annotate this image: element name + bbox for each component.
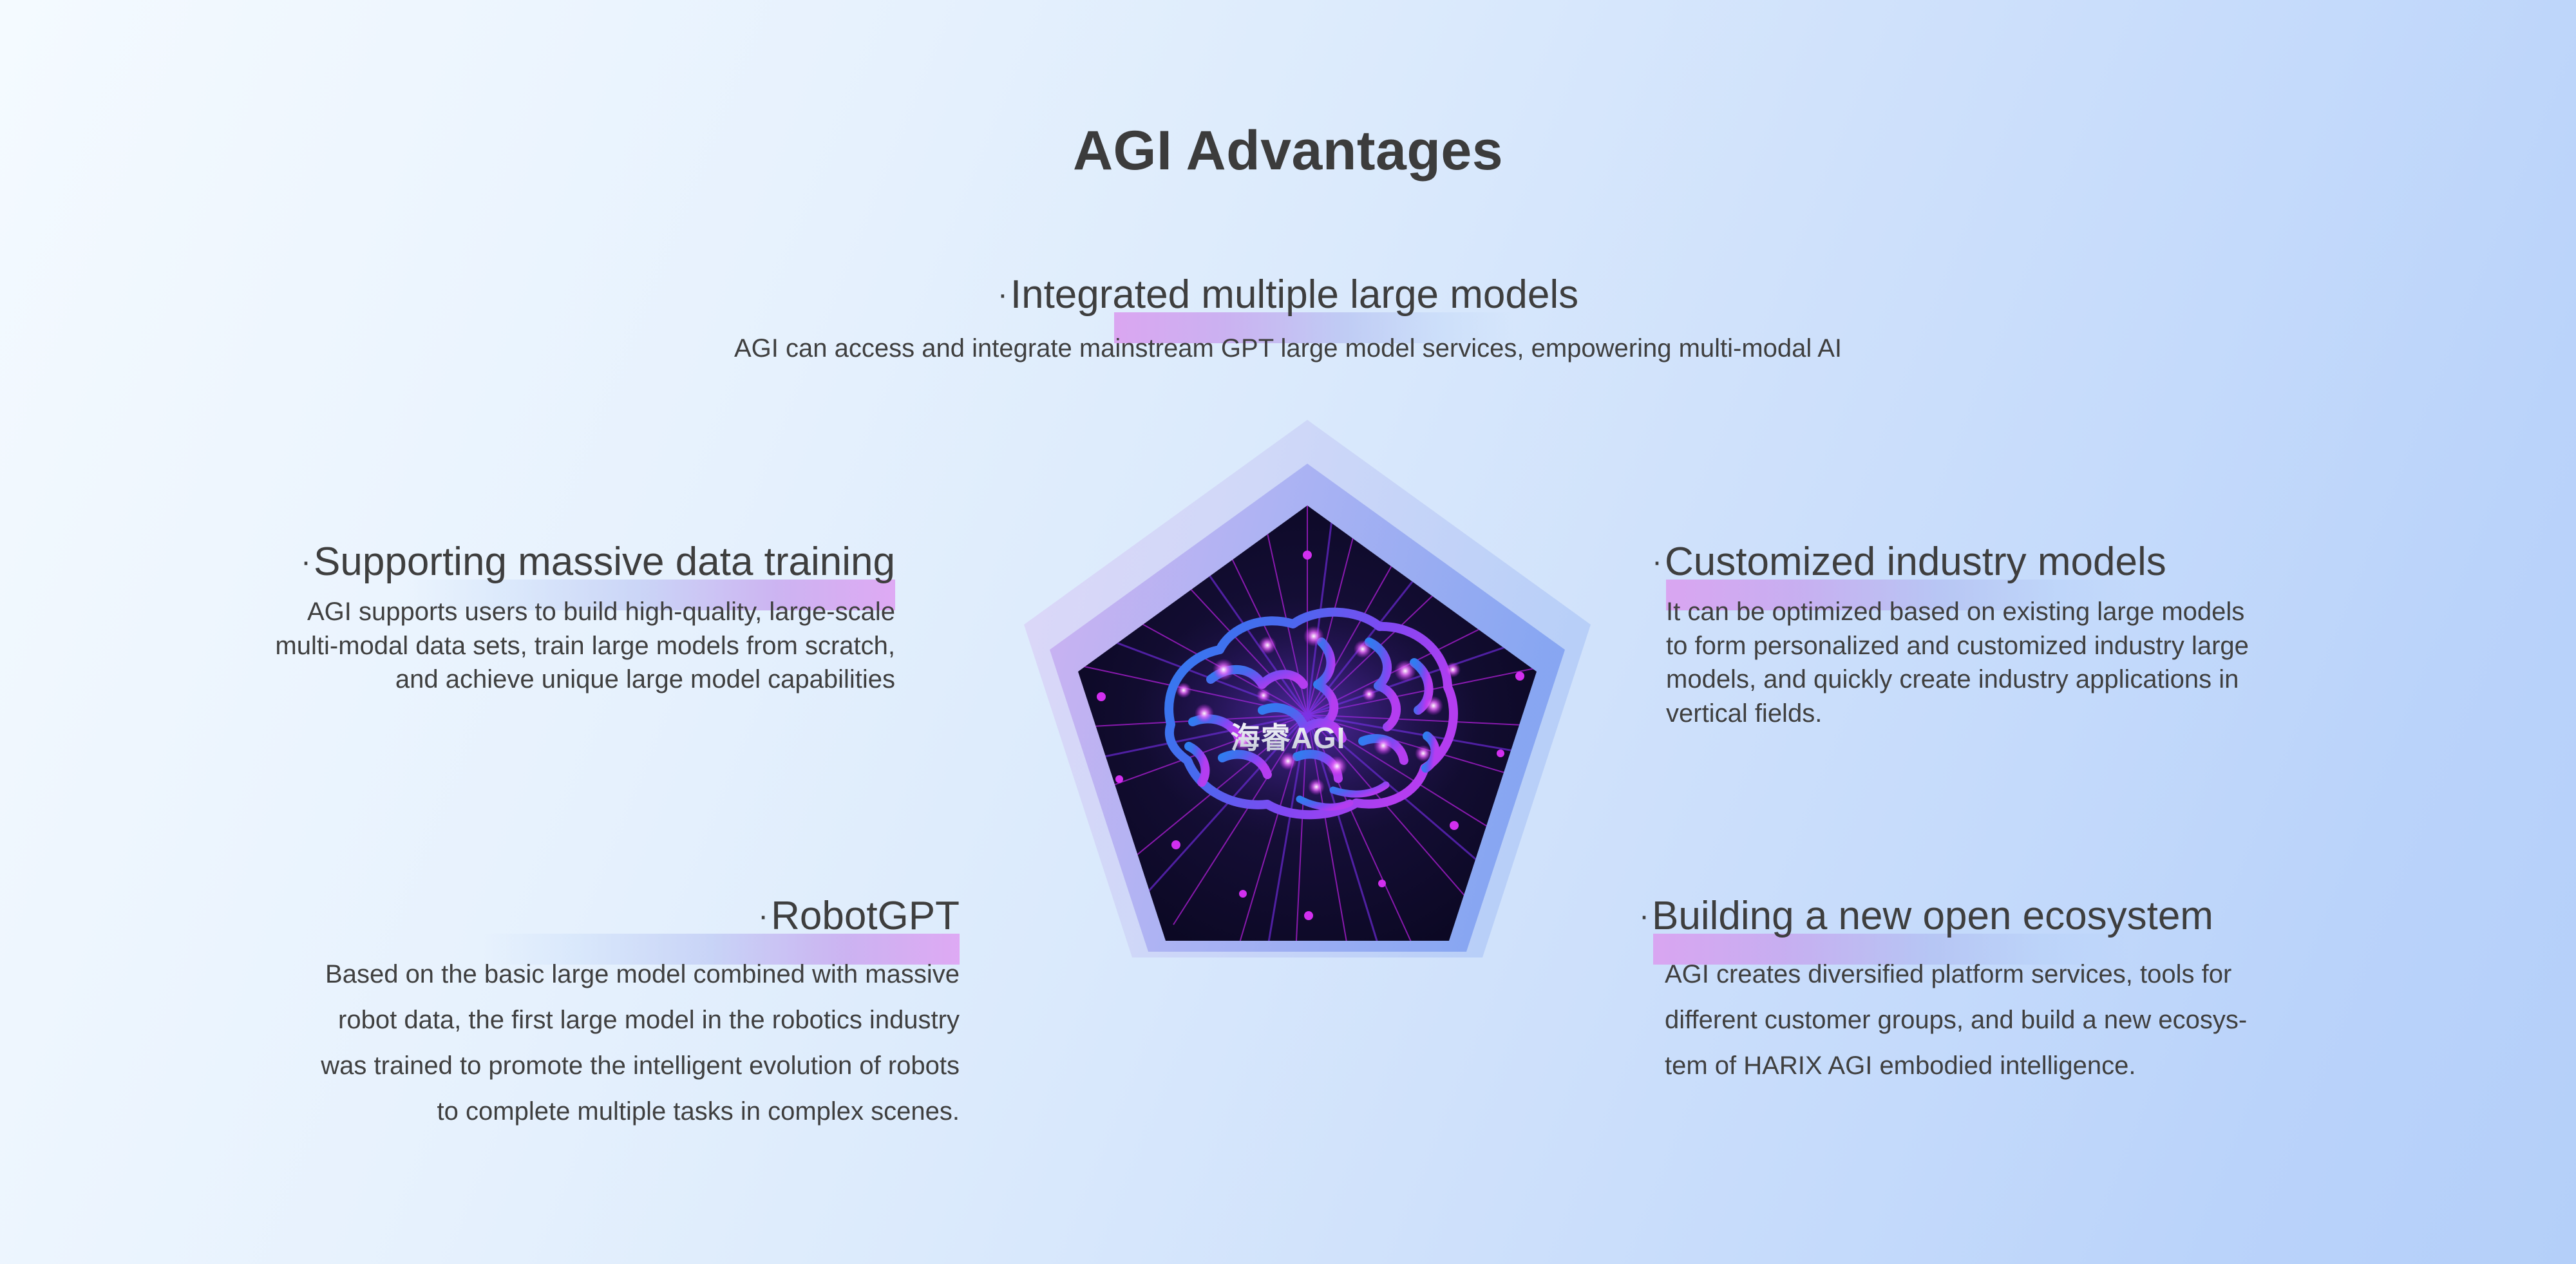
bullet-dot-2: · xyxy=(301,545,314,579)
section-heading-text-3: RobotGPT xyxy=(771,894,960,938)
section-robotgpt: ·RobotGPT Based on the basic large model… xyxy=(39,895,960,1135)
section-heading-4: ·Customized industry models xyxy=(1652,541,2553,583)
section-heading-text-2: Supporting massive data training xyxy=(314,540,895,584)
section-building-a-new-open-ecosystem: ·Building a new open ecosystem AGI creat… xyxy=(1639,895,2553,1089)
section-customized-industry-models: ·Customized industry models It can be op… xyxy=(1652,541,2553,731)
section-body-line: robot data, the first large model in the… xyxy=(39,997,960,1043)
section-heading-1: ·Integrated multiple large models xyxy=(0,274,2576,316)
pentagon-brain-graphic xyxy=(1011,393,1604,1088)
section-heading-2: ·Supporting massive data training xyxy=(39,541,895,583)
bullet-dot-1: · xyxy=(998,278,1010,312)
section-body-line: vertical fields. xyxy=(1666,697,2553,731)
section-heading-3: ·RobotGPT xyxy=(39,895,960,938)
section-integrated-multiple-large-models: ·Integrated multiple large models AGI ca… xyxy=(0,274,2576,366)
section-supporting-massive-data-training: ·Supporting massive data training AGI su… xyxy=(39,541,895,697)
section-body-line: and achieve unique large model capabilit… xyxy=(39,663,895,697)
section-body-line: was trained to promote the intelligent e… xyxy=(39,1043,960,1089)
section-body-5: AGI creates diversified platform service… xyxy=(1639,952,2553,1089)
section-body-line: different customer groups, and build a n… xyxy=(1665,997,2553,1043)
section-body-line: to form personalized and customized indu… xyxy=(1666,629,2553,663)
section-heading-text-1: Integrated multiple large models xyxy=(1010,272,1578,317)
section-body-line: AGI supports users to build high-quality… xyxy=(39,595,895,629)
infographic-canvas: AGI Advantages ·Integrated multiple larg… xyxy=(0,0,2576,1264)
section-body-line: Based on the basic large model combined … xyxy=(39,952,960,997)
section-body-line: multi-modal data sets, train large model… xyxy=(39,629,895,663)
section-body-line: AGI creates diversified platform service… xyxy=(1665,952,2553,997)
bullet-dot-5: · xyxy=(1639,899,1652,933)
section-body-4: It can be optimized based on existing la… xyxy=(1652,595,2553,731)
bullet-dot-3: · xyxy=(758,899,771,933)
section-body-line: models, and quickly create industry appl… xyxy=(1666,663,2553,697)
section-body-line: to complete multiple tasks in complex sc… xyxy=(39,1089,960,1135)
section-body-1: AGI can access and integrate mainstream … xyxy=(0,332,2576,366)
section-heading-5: ·Building a new open ecosystem xyxy=(1639,895,2553,938)
section-body-2: AGI supports users to build high-quality… xyxy=(39,595,895,697)
section-body-line: It can be optimized based on existing la… xyxy=(1666,595,2553,629)
section-heading-text-4: Customized industry models xyxy=(1665,540,2166,584)
section-body-line: tem of HARIX AGI embodied intelligence. xyxy=(1665,1043,2553,1089)
section-body-3: Based on the basic large model combined … xyxy=(39,952,960,1135)
bullet-dot-4: · xyxy=(1652,545,1665,579)
page-title: AGI Advantages xyxy=(0,119,2576,183)
section-heading-text-5: Building a new open ecosystem xyxy=(1652,894,2213,938)
